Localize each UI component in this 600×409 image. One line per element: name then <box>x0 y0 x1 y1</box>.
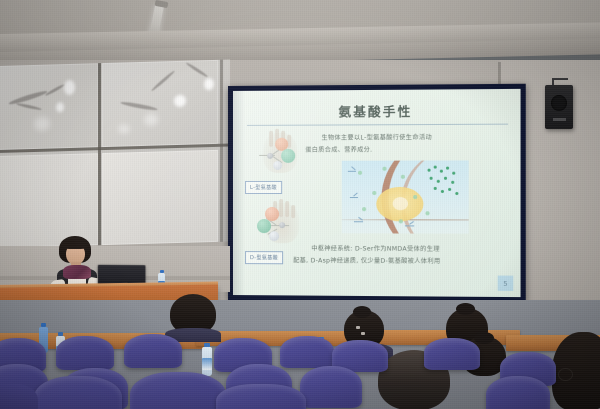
bond <box>348 171 356 172</box>
seat-foreground <box>34 376 122 409</box>
bond <box>354 221 363 222</box>
cell-receptor-diagram <box>342 160 469 233</box>
ligand-dot <box>399 219 403 223</box>
marble-panel-wall <box>0 60 230 248</box>
seat <box>486 376 550 409</box>
helix-node <box>434 166 437 169</box>
bond <box>350 197 358 198</box>
atom-carbon <box>267 153 273 159</box>
ligand-dot <box>382 167 386 171</box>
small-molecule-structure <box>348 167 358 176</box>
slide-title-divider <box>247 124 508 126</box>
lecture-hall-photo: 氨基酸手性 生物体主要以L-型氨基酸行使生命活动 蛋白质合成、营养成分. <box>0 0 600 409</box>
small-molecule-structure <box>350 193 360 202</box>
d-form-label: D-型氨基酸 <box>245 251 283 264</box>
ligand-dot <box>413 195 417 199</box>
hair-clip <box>361 332 365 335</box>
wall-panel <box>0 153 98 248</box>
slide-number-badge: 5 <box>498 276 514 291</box>
slide-body-bottom: 中枢神经系统: D-Ser作为NMDA受体的生理 配基, D-Asp神经递质, … <box>293 243 510 268</box>
l-amino-acid-molecule <box>249 131 301 177</box>
hand-finger <box>291 205 295 218</box>
small-molecule-structure <box>354 217 364 226</box>
helix-node <box>440 170 443 173</box>
panel-seam <box>220 60 223 242</box>
bond <box>351 166 356 170</box>
hair-bun <box>456 303 475 315</box>
d-amino-acid-molecule <box>249 201 301 247</box>
slide-body-top-line2: 蛋白质合成、营养成分. <box>305 144 506 157</box>
bond <box>409 221 414 225</box>
hand-finger <box>285 201 289 217</box>
cell-nucleus <box>393 197 408 210</box>
seat-foreground <box>216 384 306 409</box>
seat <box>300 366 362 408</box>
helix-node <box>428 169 431 172</box>
hand-finger <box>269 131 273 147</box>
atom-hydrogen <box>273 161 282 170</box>
atom-amine <box>257 219 271 233</box>
ligand-dot <box>401 175 405 179</box>
seat <box>424 338 480 370</box>
atom-carbon <box>279 222 285 228</box>
audience-member-1 <box>170 294 216 334</box>
slide-body-top-line1: 生物体主要以L-型氨基酸行使生命活动 <box>305 132 506 145</box>
speaker-cone <box>551 95 567 111</box>
ligand-dot <box>358 171 362 175</box>
audience-member-6 <box>552 332 600 409</box>
slide-body-top: 生物体主要以L-型氨基酸行使生命活动 蛋白质合成、营养成分. <box>305 132 506 157</box>
helix-node <box>437 180 440 183</box>
wall-panel <box>102 150 218 245</box>
l-form-label: L-型氨基酸 <box>245 181 282 194</box>
projector-screen-frame: 氨基酸手性 生物体主要以L-型氨基酸行使生命活动 蛋白质合成、营养成分. <box>228 84 526 303</box>
hair-bun <box>474 332 494 344</box>
seat <box>280 336 334 368</box>
eyeglasses-icon <box>558 368 573 381</box>
helix-node <box>446 167 449 170</box>
bond <box>353 193 358 197</box>
bottle-label <box>202 358 212 370</box>
helix-node <box>444 177 447 180</box>
protein-helix <box>425 165 462 200</box>
atom-amine <box>281 149 295 163</box>
slide-body-bottom-line2: 配基, D-Asp神经递质, 仅少量D-氨基酸被人体利用 <box>293 255 510 268</box>
helix-node <box>451 181 454 184</box>
speaker-badge <box>553 118 566 121</box>
ligand-dot <box>362 207 366 211</box>
helix-node <box>441 190 444 193</box>
small-molecule-structure <box>405 221 415 230</box>
seat-foreground <box>130 372 226 409</box>
helix-node <box>430 177 433 180</box>
seat <box>56 336 114 370</box>
slide-title: 氨基酸手性 <box>233 100 521 121</box>
bond <box>405 225 414 226</box>
helix-node <box>452 172 455 175</box>
hair-clip <box>356 326 360 329</box>
bond <box>358 217 363 221</box>
helix-node <box>434 187 437 190</box>
seat <box>124 334 182 368</box>
helix-node <box>448 188 451 191</box>
water-bottle-3 <box>202 343 212 376</box>
projected-slide: 氨基酸手性 生物体主要以L-型氨基酸行使生命活动 蛋白质合成、营养成分. <box>233 89 521 297</box>
screen-edge-shadow <box>233 91 245 295</box>
hand-finger <box>279 199 283 217</box>
slide-body-bottom-line1: 中枢神经系统: D-Ser作为NMDA受体的生理 <box>293 243 510 256</box>
panel-seam <box>98 63 101 245</box>
ligand-dot <box>425 211 429 215</box>
presenter-fringe <box>61 238 89 249</box>
atom-hydrogen <box>269 231 279 241</box>
ligand-dot <box>372 191 376 195</box>
hair-bun <box>353 306 371 318</box>
wall-panel <box>0 63 98 150</box>
helix-node <box>455 192 458 195</box>
presenter-scarf <box>63 265 91 279</box>
